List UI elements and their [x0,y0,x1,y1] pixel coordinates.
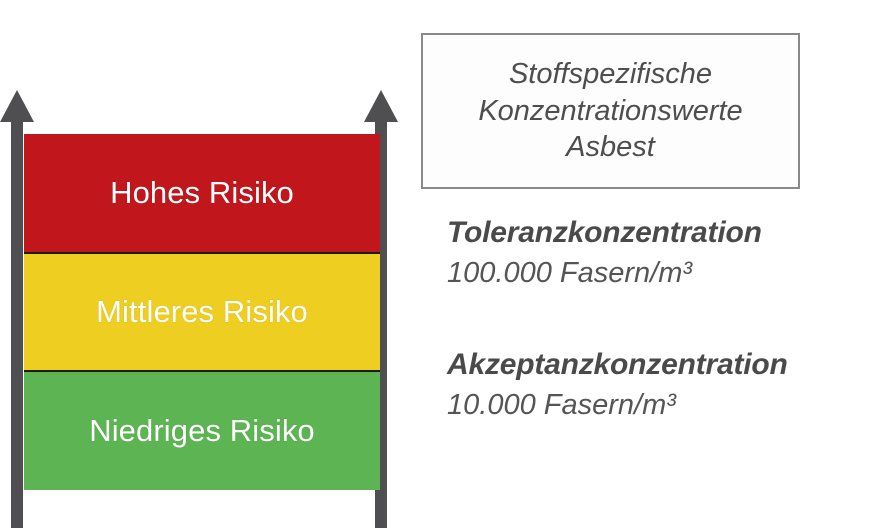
substance-title-line-3: Asbest [566,131,655,163]
risk-level-bars: Hohes Risiko Mittleres Risiko Niedriges … [24,134,380,490]
akzeptanzkonzentration-group: Akzeptanzkonzentration 10.000 Fasern/m³ [447,348,872,422]
akzeptanzkonzentration-amount: 10.000 Fasern/m³ [447,388,872,423]
substance-title-box: Stoffspezifische Konzentrationswerte Asb… [421,33,800,189]
toleranzkonzentration-heading: Toleranzkonzentration [447,216,872,250]
substance-title-line-1: Stoffspezifische [509,58,712,90]
substance-title-line-2: Konzentrationswerte [478,95,742,127]
risk-concentration-infographic: Hohes Risiko Mittleres Risiko Niedriges … [0,0,872,528]
risk-ladder: Hohes Risiko Mittleres Risiko Niedriges … [0,0,420,528]
info-column: Stoffspezifische Konzentrationswerte Asb… [421,0,872,528]
risk-level-high: Hohes Risiko [24,134,380,254]
toleranzkonzentration-group: Toleranzkonzentration 100.000 Fasern/m³ [447,216,872,290]
risk-level-low-label: Niedriges Risiko [83,414,321,449]
risk-level-low: Niedriges Risiko [24,372,380,490]
toleranzkonzentration-amount: 100.000 Fasern/m³ [447,256,872,291]
akzeptanzkonzentration-heading: Akzeptanzkonzentration [447,348,872,382]
substance-title-text: Stoffspezifische Konzentrationswerte Asb… [468,56,752,166]
risk-level-medium-label: Mittleres Risiko [90,295,314,330]
risk-level-high-label: Hohes Risiko [104,176,300,211]
risk-level-medium: Mittleres Risiko [24,254,380,372]
